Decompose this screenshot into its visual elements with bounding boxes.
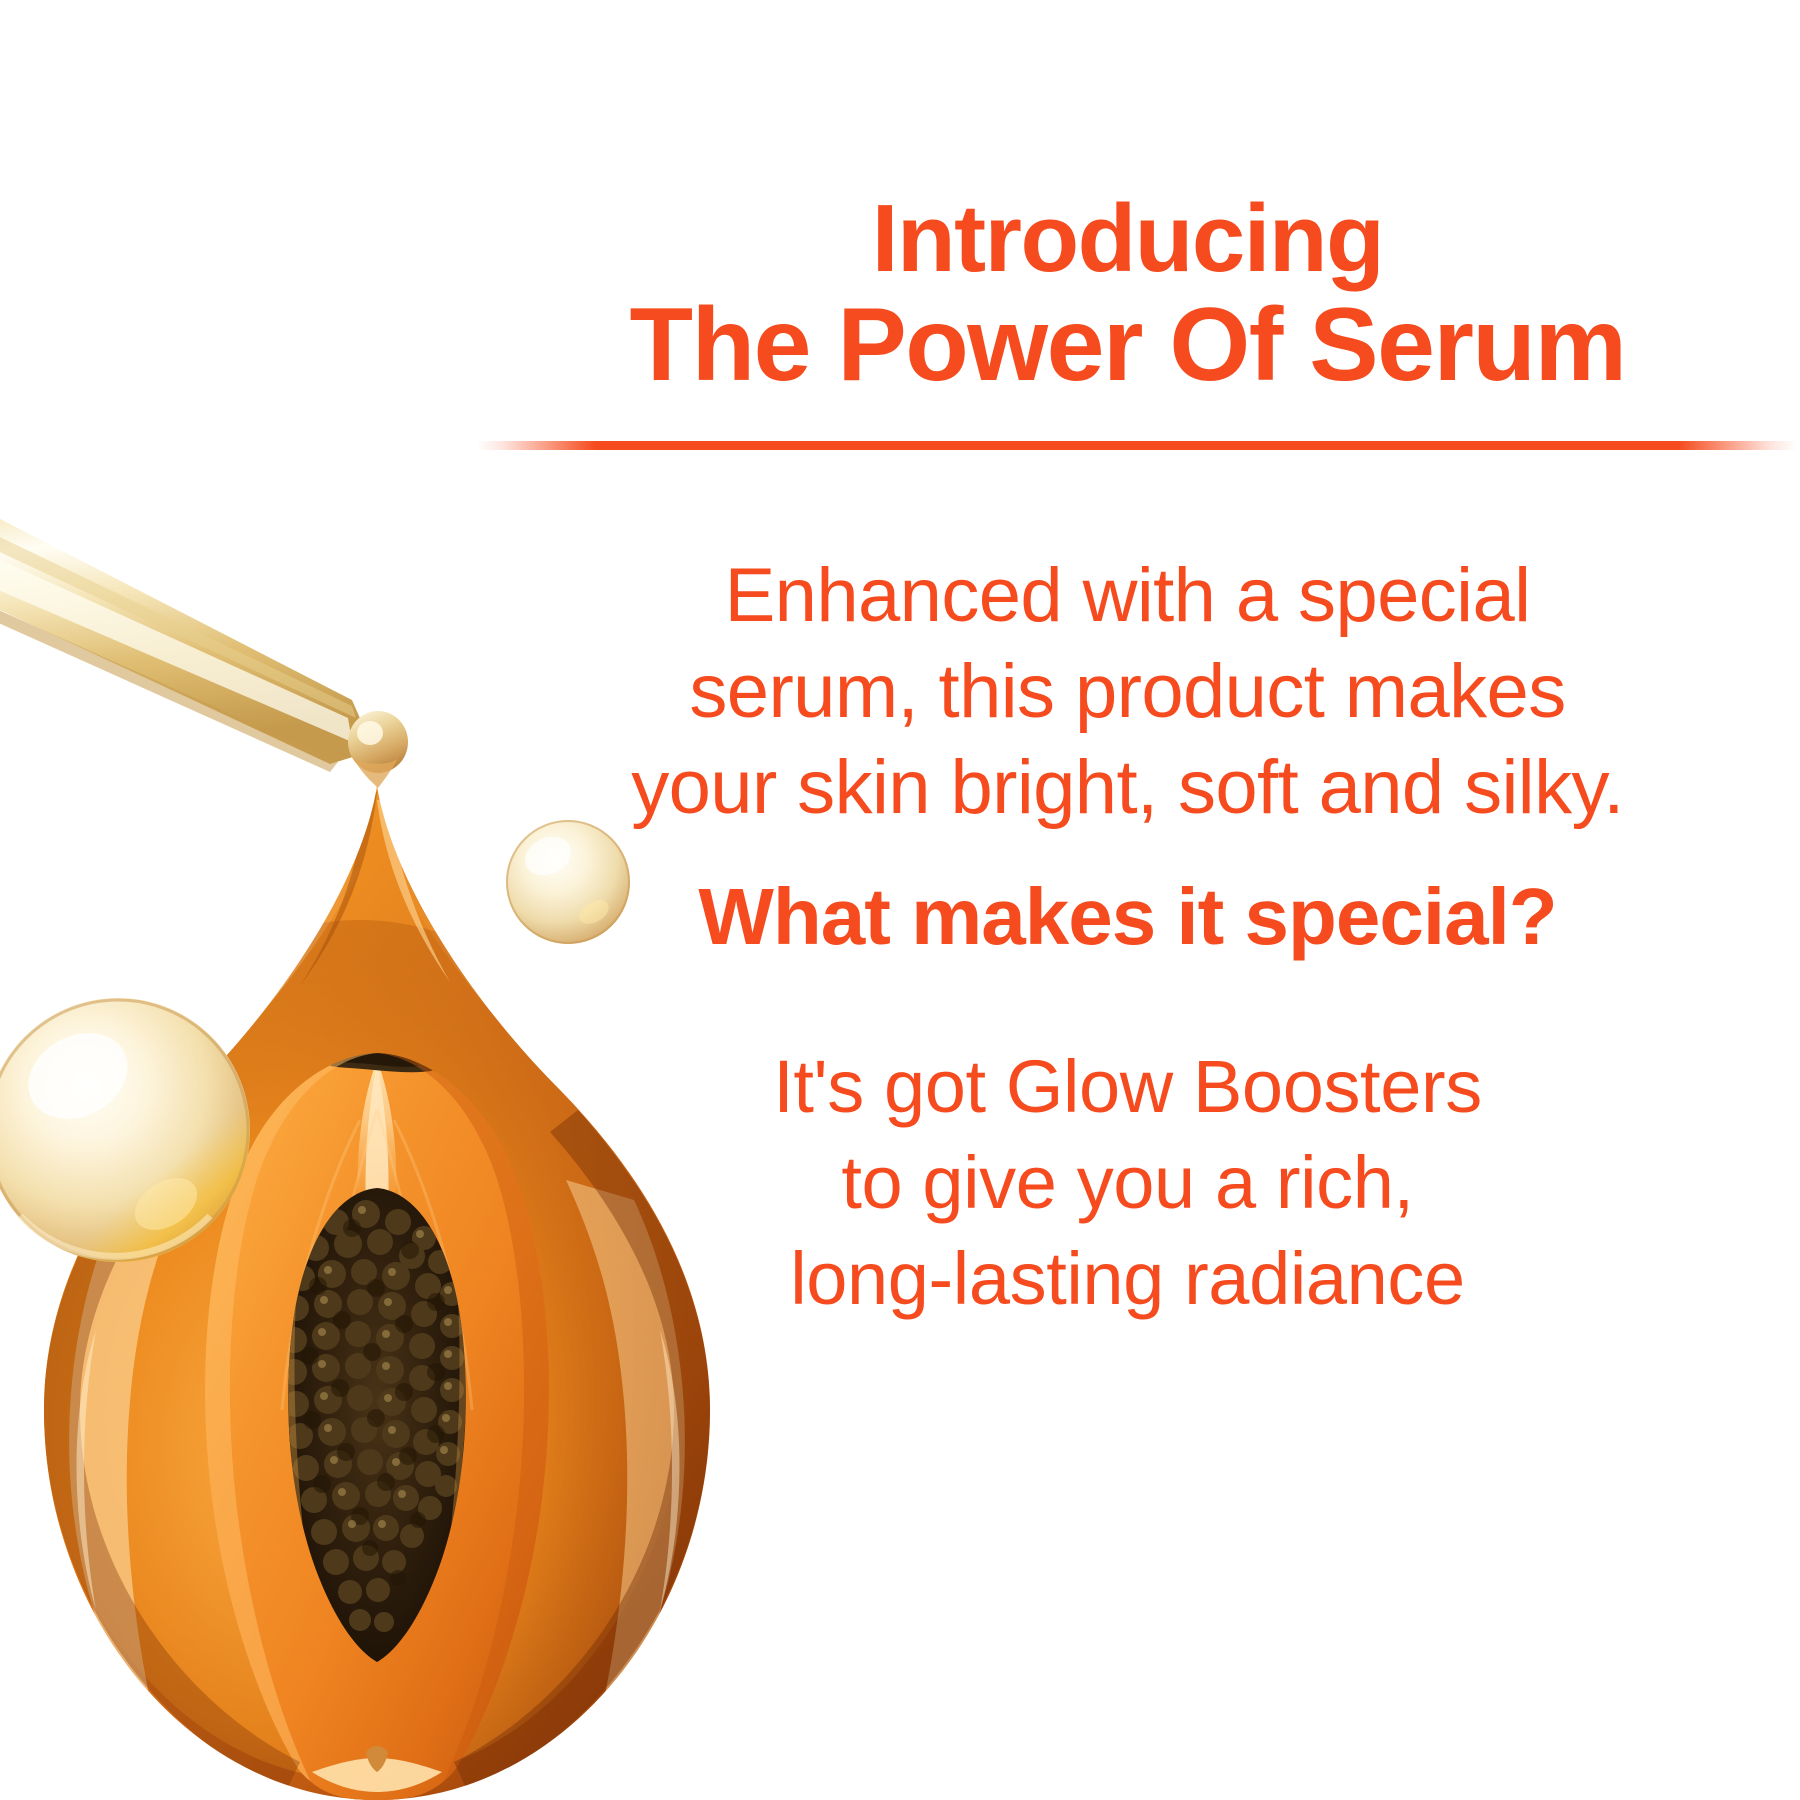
serum-bubble-large <box>0 998 250 1262</box>
section-subheading: What makes it special? <box>455 871 1800 963</box>
papaya-seed-cavity <box>288 1188 466 1662</box>
headline-line-2: The Power Of Serum <box>455 290 1800 401</box>
papaya-seeds <box>281 1200 467 1632</box>
serum-dropper-pipette <box>0 452 408 788</box>
headline-line-1: Introducing <box>455 188 1800 291</box>
copy-column: Introducing The Power Of Serum Enhanced … <box>455 0 1800 1800</box>
divider-rule <box>477 441 1797 450</box>
serum-promo-poster: Introducing The Power Of Serum Enhanced … <box>0 0 1800 1800</box>
page-title: Introducing The Power Of Serum <box>455 188 1800 402</box>
intro-paragraph: Enhanced with a special serum, this prod… <box>455 548 1800 835</box>
glow-boosters-paragraph: It's got Glow Boosters to give you a ric… <box>455 1039 1800 1328</box>
